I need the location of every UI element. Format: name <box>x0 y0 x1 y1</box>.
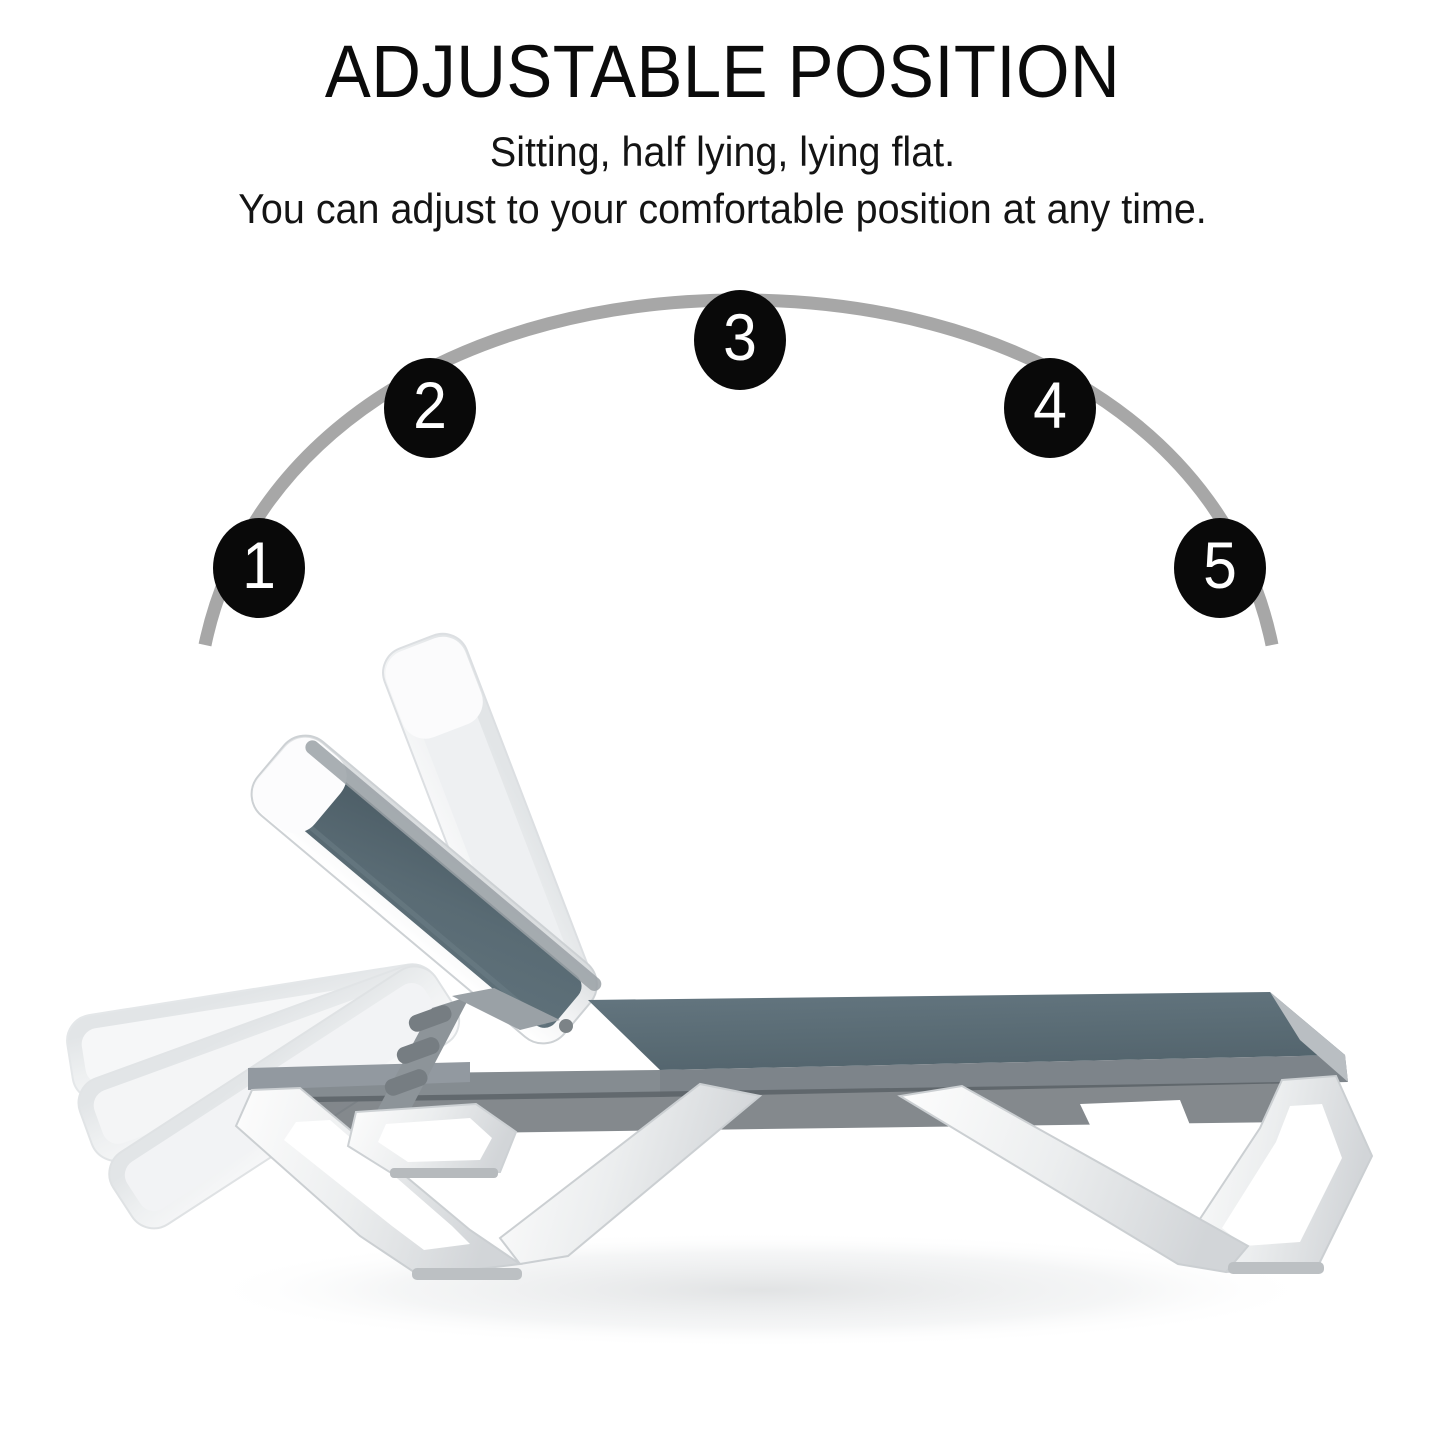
position-badge-2[interactable]: 2 <box>384 358 476 458</box>
chaise-lounge-illustration <box>0 0 1445 1445</box>
infographic-page: ADJUSTABLE POSITION Sitting, half lying,… <box>0 0 1445 1445</box>
position-badge-5[interactable]: 5 <box>1174 518 1266 618</box>
position-badge-3[interactable]: 3 <box>694 290 786 390</box>
position-badge-2-label: 2 <box>413 372 447 438</box>
position-badge-4-label: 4 <box>1033 372 1067 438</box>
position-badge-3-label: 3 <box>723 304 757 370</box>
position-badge-5-label: 5 <box>1203 532 1237 598</box>
position-badge-1-label: 1 <box>242 532 276 598</box>
position-badge-1[interactable]: 1 <box>213 518 305 618</box>
position-badge-4[interactable]: 4 <box>1004 358 1096 458</box>
